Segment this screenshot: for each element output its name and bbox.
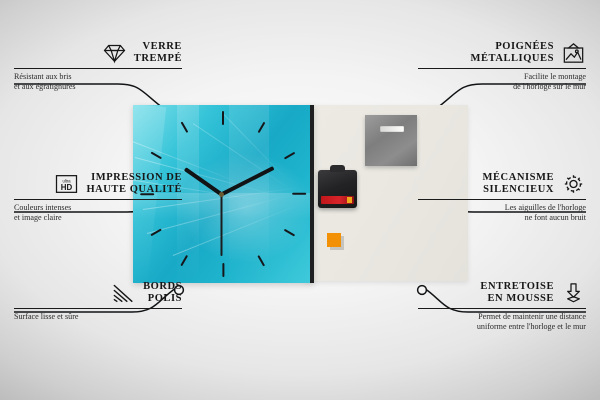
callout-subtitle: Permet de maintenir une distanceuniforme…: [418, 312, 586, 332]
callout-rule: [418, 308, 586, 309]
metal-hanger-plate: [365, 115, 417, 166]
ultra-hd-badge-icon: ultra HD: [54, 173, 79, 195]
callout-poignees-metalliques: POIGNÉESMÉTALLIQUES Facilite le montaged…: [418, 41, 586, 92]
battery: [321, 196, 354, 204]
clock-tick: [222, 263, 224, 277]
callout-rule: [14, 68, 182, 69]
callout-mecanisme-silencieux: MÉCANISMESILENCIEUX Les aiguilles de l'h…: [418, 172, 586, 223]
callout-subtitle: Résistant aux briset aux égratignures: [14, 72, 182, 92]
svg-text:HD: HD: [61, 183, 73, 192]
callout-title: ENTRETOISEEN MOUSSE: [480, 281, 554, 304]
clock-center-cap: [219, 192, 224, 197]
picture-frame-hook-icon: [561, 42, 586, 64]
callout-verre-trempe: VERRETREMPÉ Résistant aux briset aux égr…: [14, 41, 182, 92]
callout-title: VERRETREMPÉ: [134, 41, 182, 64]
callout-title: BORDSPOLIS: [143, 281, 182, 304]
diamond-icon: [102, 42, 127, 64]
callout-impression-haute-qualite: ultra HD IMPRESSION DEHAUTE QUALITÉ Coul…: [14, 172, 182, 223]
clock-second-hand: [221, 194, 223, 256]
callout-rule: [418, 68, 586, 69]
infographic-canvas: VERRETREMPÉ Résistant aux briset aux égr…: [0, 0, 600, 400]
callout-subtitle: Facilite le montagede l'horloge sur le m…: [418, 72, 586, 92]
polished-edges-icon: [111, 282, 136, 304]
callout-title: POIGNÉESMÉTALLIQUES: [471, 41, 554, 64]
callout-title: IMPRESSION DEHAUTE QUALITÉ: [86, 172, 182, 195]
callout-rule: [14, 199, 182, 200]
callout-subtitle: Surface lisse et sûre: [14, 312, 182, 322]
arrow-down-pad-icon: [561, 282, 586, 304]
movement-tab: [330, 165, 345, 172]
gear-icon: [561, 173, 586, 195]
callout-rule: [14, 308, 182, 309]
clock-tick: [283, 229, 294, 236]
callout-subtitle: Couleurs intenseset image claire: [14, 203, 182, 223]
callout-title: MÉCANISMESILENCIEUX: [483, 172, 554, 195]
battery-plus-terminal: [347, 197, 353, 203]
callout-entretoise-en-mousse: ENTRETOISEEN MOUSSE Permet de maintenir …: [418, 281, 586, 332]
clock-movement: [318, 170, 357, 208]
callout-bords-polis: BORDSPOLIS Surface lisse et sûre: [14, 281, 182, 322]
clock-tick: [283, 152, 294, 159]
hanger-slot: [380, 126, 404, 132]
callout-rule: [418, 199, 586, 200]
callout-subtitle: Les aiguilles de l'horlogene font aucun …: [418, 203, 586, 223]
foam-spacer: [327, 233, 341, 247]
